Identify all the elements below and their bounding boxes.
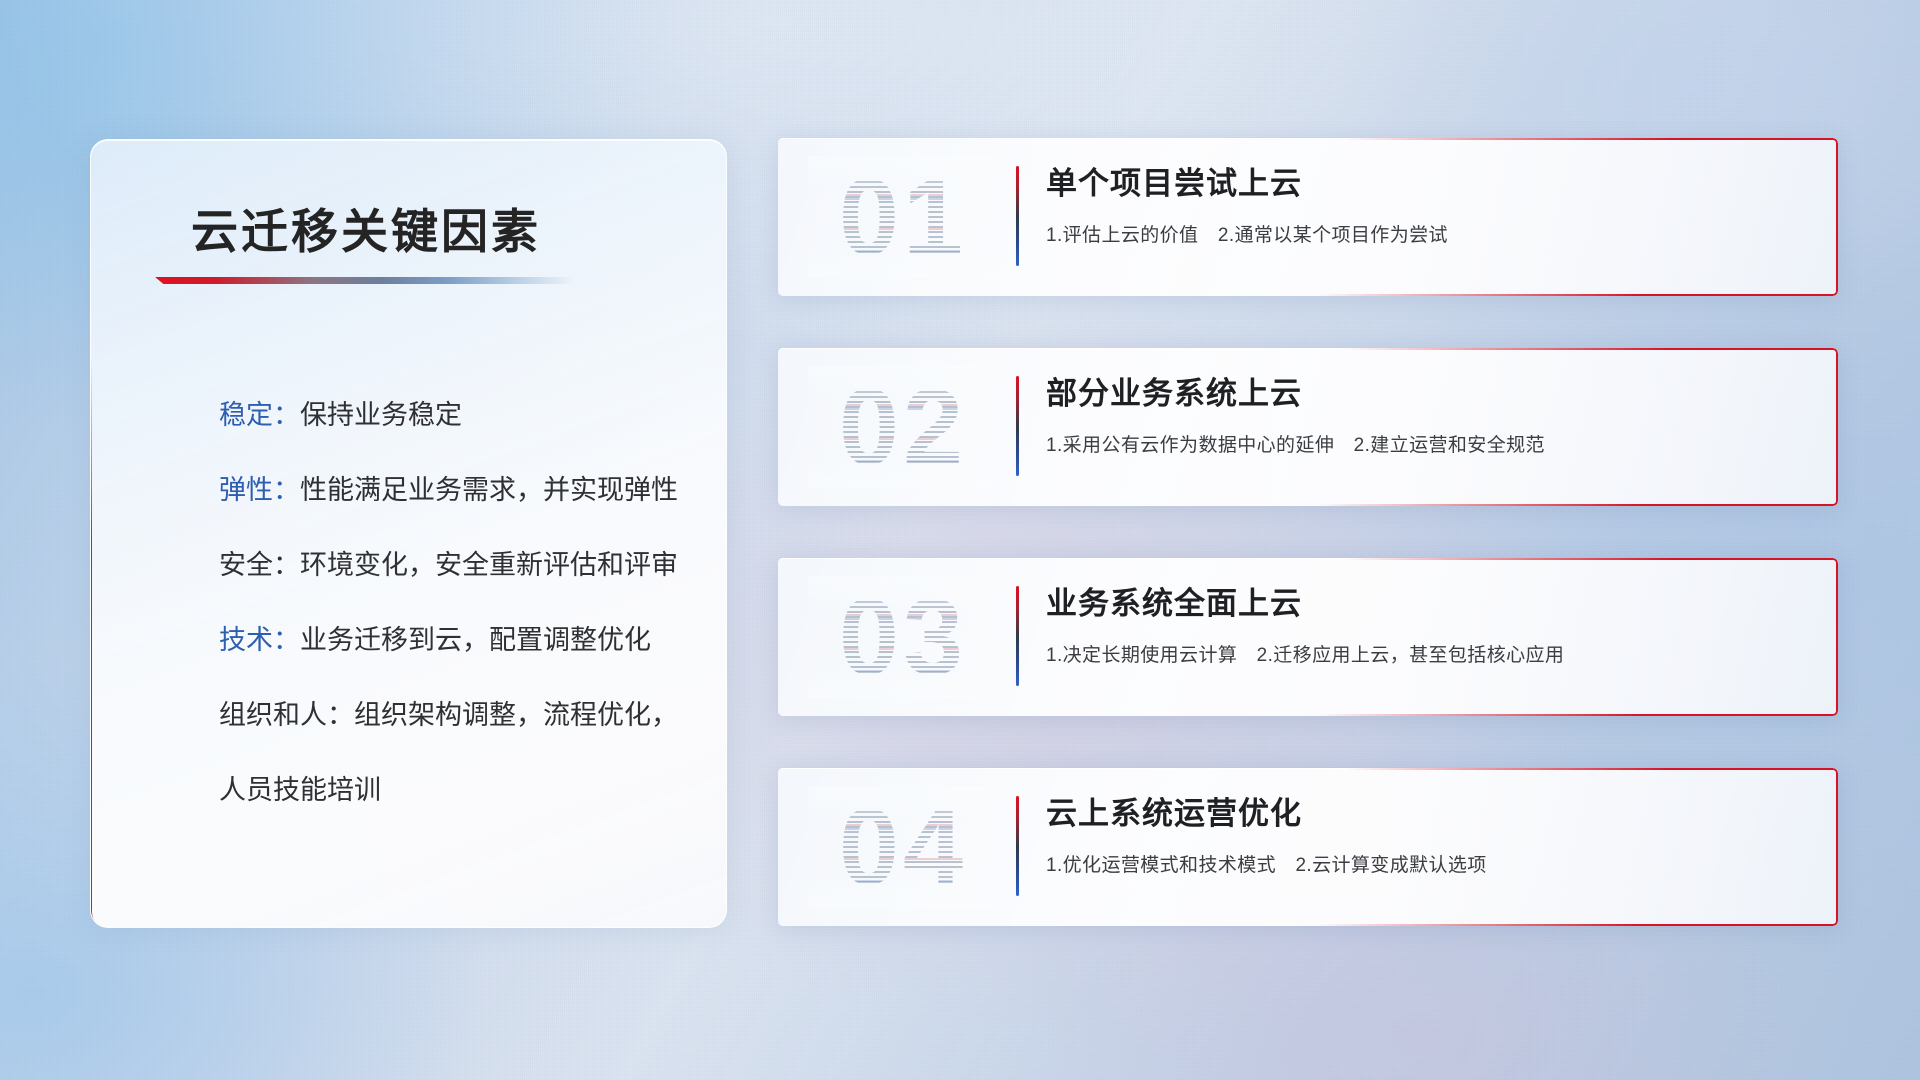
factor-list: 稳定：保持业务稳定 弹性：性能满足业务需求，并实现弹性 安全：环境变化，安全重新… [219,378,686,827]
card-subtitle: 1.优化运营模式和技术模式 2.云计算变成默认选项 [1046,850,1798,877]
card-title: 部分业务系统上云 [1046,370,1798,418]
key-factors-panel: 云迁移关键因素 稳定：保持业务稳定 弹性：性能满足业务需求，并实现弹性 安全：环… [90,139,727,928]
stage-card[interactable]: 01 01 01 单个项目尝试上云 1.评估上云的价值 2.通常以某个项目作为尝… [778,138,1838,296]
slide-stage: 云迁移关键因素 稳定：保持业务稳定 弹性：性能满足业务需求，并实现弹性 安全：环… [0,0,1920,1080]
step-number-blue-tint: 03 [808,576,998,698]
step-number-badge: 02 02 02 [808,366,998,488]
factor-value: 组织架构调整，流程优化， [354,700,678,730]
step-number-fade [808,786,998,908]
card-body: 业务系统全面上云 1.决定长期使用云计算 2.迁移应用上云，甚至包括核心应用 [1046,580,1798,667]
step-number-badge: 04 04 04 [808,786,998,908]
list-item: 稳定：保持业务稳定 [219,378,686,453]
step-number-fade [808,156,998,278]
step-number-blue-tint: 04 [808,786,998,908]
title-underline-rule [155,277,575,284]
step-number-red-tint: 02 [808,366,998,488]
list-item: 技术：业务迁移到云，配置调整优化 [219,603,686,678]
list-item-continuation: 人员技能培训 [219,753,686,827]
factor-value: 业务迁移到云，配置调整优化 [300,625,651,655]
card-accent-bar [1016,586,1019,686]
stage-card[interactable]: 04 04 04 云上系统运营优化 1.优化运营模式和技术模式 2.云计算变成默… [778,768,1838,926]
factor-label: 技术： [219,625,300,655]
step-number-red-tint: 04 [808,786,998,908]
list-item: 安全：环境变化，安全重新评估和评审 [219,528,686,603]
step-number-fade [808,576,998,698]
card-accent-bar [1016,166,1019,266]
card-subtitle: 1.采用公有云作为数据中心的延伸 2.建立运营和安全规范 [1046,430,1798,457]
factor-label: 弹性： [219,475,300,505]
step-number-red-tint: 01 [808,156,998,278]
step-number-red-tint: 03 [808,576,998,698]
step-number-blue-tint: 02 [808,366,998,488]
step-number-text: 04 [808,786,998,908]
step-number-text: 01 [808,156,998,278]
factor-value: 性能满足业务需求，并实现弹性 [300,475,678,505]
card-body: 单个项目尝试上云 1.评估上云的价值 2.通常以某个项目作为尝试 [1046,160,1798,247]
card-title: 单个项目尝试上云 [1046,160,1798,208]
card-accent-bar [1016,376,1019,476]
list-item: 弹性：性能满足业务需求，并实现弹性 [219,453,686,528]
step-number-blue-tint: 01 [808,156,998,278]
list-item: 组织和人：组织架构调整，流程优化， [219,678,686,753]
card-accent-bar [1016,796,1019,896]
stage-card[interactable]: 03 03 03 业务系统全面上云 1.决定长期使用云计算 2.迁移应用上云，甚… [778,558,1838,716]
card-body: 部分业务系统上云 1.采用公有云作为数据中心的延伸 2.建立运营和安全规范 [1046,370,1798,457]
step-number-badge: 03 03 03 [808,576,998,698]
step-number-text: 02 [808,366,998,488]
factor-value: 人员技能培训 [219,775,381,805]
migration-stage-card-list: 01 01 01 单个项目尝试上云 1.评估上云的价值 2.通常以某个项目作为尝… [778,138,1838,978]
factor-label: 组织和人： [219,700,354,730]
step-number-text: 03 [808,576,998,698]
card-body: 云上系统运营优化 1.优化运营模式和技术模式 2.云计算变成默认选项 [1046,790,1798,877]
factor-label: 稳定： [219,400,300,430]
stage-card[interactable]: 02 02 02 部分业务系统上云 1.采用公有云作为数据中心的延伸 2.建立运… [778,348,1838,506]
card-title: 云上系统运营优化 [1046,790,1798,838]
step-number-badge: 01 01 01 [808,156,998,278]
factor-value: 保持业务稳定 [300,400,462,430]
card-title: 业务系统全面上云 [1046,580,1798,628]
card-subtitle: 1.决定长期使用云计算 2.迁移应用上云，甚至包括核心应用 [1046,640,1798,667]
factor-value: 环境变化，安全重新评估和评审 [300,550,678,580]
page-title: 云迁移关键因素 [191,193,541,262]
card-subtitle: 1.评估上云的价值 2.通常以某个项目作为尝试 [1046,220,1798,247]
factor-label: 安全： [219,550,300,580]
step-number-fade [808,366,998,488]
